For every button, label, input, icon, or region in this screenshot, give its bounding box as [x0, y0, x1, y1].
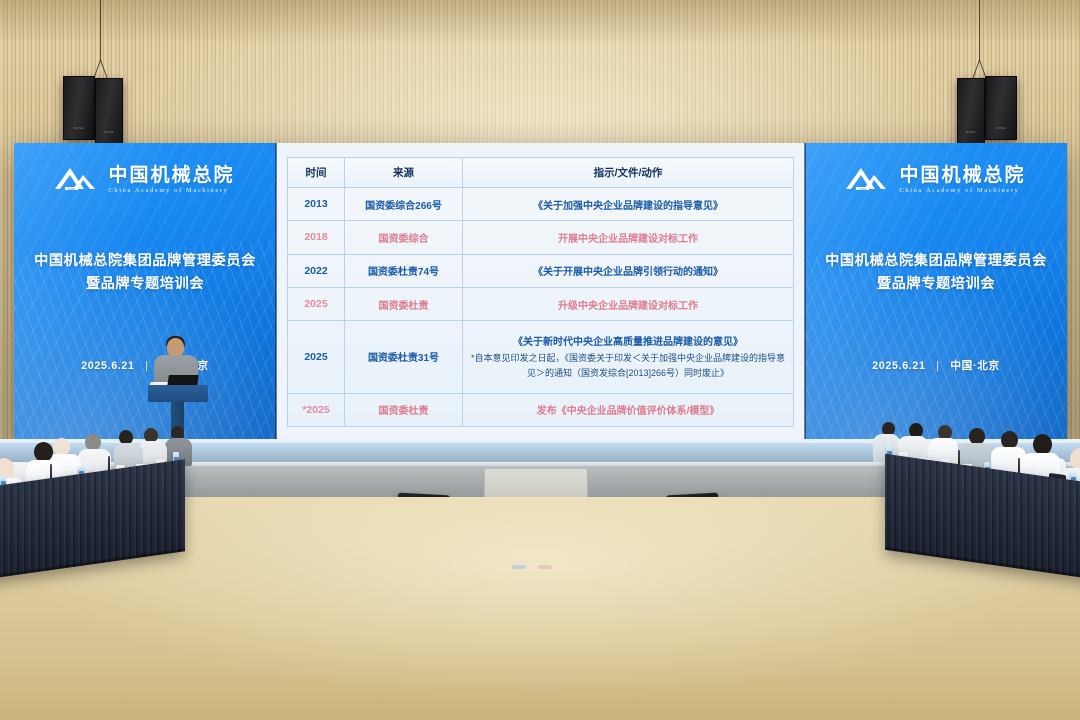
table-row: 2025 国资委杜责 升级中央企业品牌建设对标工作	[288, 287, 794, 320]
table-row: 2022 国资委杜责74号 《关于开展中央企业品牌引领行动的通知》	[288, 254, 794, 287]
cell-time: 2025	[288, 321, 345, 393]
cell-time: 2025	[288, 287, 345, 320]
speaker-rig-left: BOSE BOSE	[30, 0, 170, 150]
led-panel-seam-right	[804, 143, 806, 439]
conference-table-right	[830, 414, 1080, 604]
logo-cn-name: 中国机械总院	[108, 166, 234, 185]
slide-meta-right: 2025.6.21 | 中国·北京	[805, 358, 1067, 373]
mountain-peak-logo-icon: CAM	[55, 165, 101, 195]
cell-time: *2025	[288, 393, 345, 426]
cell-source: 国资委杜责	[345, 393, 463, 426]
led-panel-seam-left	[275, 143, 277, 439]
slide-title-line2: 暨品牌专题培训会	[825, 273, 1047, 296]
table-row: 2018 国资委综合 开展中央企业品牌建设对标工作	[288, 221, 794, 254]
col-header-source: 来源	[345, 158, 463, 188]
table-row: 2025 国资委杜责31号 《关于新时代中央企业高质量推进品牌建设的意见》 *自…	[288, 321, 794, 393]
slide-location: 中国·北京	[950, 360, 999, 372]
cell-action-note: *自本意见印发之日起，《国资委关于印发＜关于加强中央企业品牌建设的指导意见＞的通…	[467, 351, 789, 381]
cell-action-main: 《关于新时代中央企业高质量推进品牌建设的意见》	[513, 337, 743, 348]
cell-action: 《关于加强中央企业品牌建设的指导意见》	[463, 188, 794, 221]
slide-date: 2025.6.21	[81, 360, 134, 372]
mountain-peak-logo-icon: CAM	[846, 165, 892, 195]
led-panel-center: 时间 来源 指示/文件/动作 2013 国资委综合266号 《关于加强中央企业品…	[276, 143, 805, 439]
conference-room-scene: BOSE BOSE BOSE BOSE	[0, 0, 1080, 720]
logo-en-name: China Academy of Machinery	[108, 188, 228, 195]
table-header-row: 时间 来源 指示/文件/动作	[288, 158, 794, 188]
cell-source: 国资委杜责	[345, 287, 463, 320]
svg-text:CAM: CAM	[859, 187, 866, 191]
hanging-speaker-icon: BOSE	[63, 76, 95, 140]
brand-logo-left: CAM 中国机械总院 China Academy of Machinery	[55, 165, 234, 195]
cell-source: 国资委综合	[345, 221, 463, 254]
podium-top	[148, 385, 208, 402]
cell-action: 《关于开展中央企业品牌引领行动的通知》	[463, 254, 794, 287]
slide-date: 2025.6.21	[872, 360, 925, 372]
slide-title-left: 中国机械总院集团品牌管理委员会 暨品牌专题培训会	[34, 250, 256, 296]
cell-time: 2022	[288, 254, 345, 287]
policy-timeline-slide: 时间 来源 指示/文件/动作 2013 国资委综合266号 《关于加强中央企业品…	[287, 157, 794, 427]
led-panel-right: CAM 中国机械总院 China Academy of Machinery 中国…	[805, 143, 1067, 439]
cell-source: 国资委综合266号	[345, 188, 463, 221]
cell-action: 开展中央企业品牌建设对标工作	[463, 221, 794, 254]
hanging-speaker-icon: BOSE	[957, 78, 985, 144]
conference-table-left	[0, 420, 240, 600]
cell-time: 2018	[288, 221, 345, 254]
svg-text:CAM: CAM	[68, 187, 75, 191]
logo-en-name: China Academy of Machinery	[899, 188, 1019, 195]
policy-table: 时间 来源 指示/文件/动作 2013 国资委综合266号 《关于加强中央企业品…	[287, 157, 794, 427]
slide-title-line1: 中国机械总院集团品牌管理委员会	[825, 250, 1047, 273]
speaker-rig-right: BOSE BOSE	[910, 0, 1050, 150]
col-header-action: 指示/文件/动作	[463, 158, 794, 188]
logo-cn-name: 中国机械总院	[899, 166, 1025, 185]
hanging-speaker-icon: BOSE	[95, 78, 123, 144]
slide-meta-separator: |	[936, 360, 939, 372]
cell-source: 国资委杜责31号	[345, 321, 463, 393]
hanging-speaker-icon: BOSE	[985, 76, 1017, 140]
cell-source: 国资委杜责74号	[345, 254, 463, 287]
slide-title-right: 中国机械总院集团品牌管理委员会 暨品牌专题培训会	[825, 250, 1047, 296]
col-header-time: 时间	[288, 158, 345, 188]
brand-logo-right: CAM 中国机械总院 China Academy of Machinery	[846, 165, 1025, 195]
table-row: 2013 国资委综合266号 《关于加强中央企业品牌建设的指导意见》	[288, 188, 794, 221]
table-row: *2025 国资委杜责 发布《中央企业品牌价值评价体系/模型》	[288, 393, 794, 426]
slide-title-line1: 中国机械总院集团品牌管理委员会	[34, 250, 256, 273]
slide-title-line2: 暨品牌专题培训会	[34, 273, 256, 296]
cell-action: 升级中央企业品牌建设对标工作	[463, 287, 794, 320]
cell-time: 2013	[288, 188, 345, 221]
cell-action: 发布《中央企业品牌价值评价体系/模型》	[463, 393, 794, 426]
cell-action: 《关于新时代中央企业高质量推进品牌建设的意见》 *自本意见印发之日起，《国资委关…	[463, 321, 794, 393]
